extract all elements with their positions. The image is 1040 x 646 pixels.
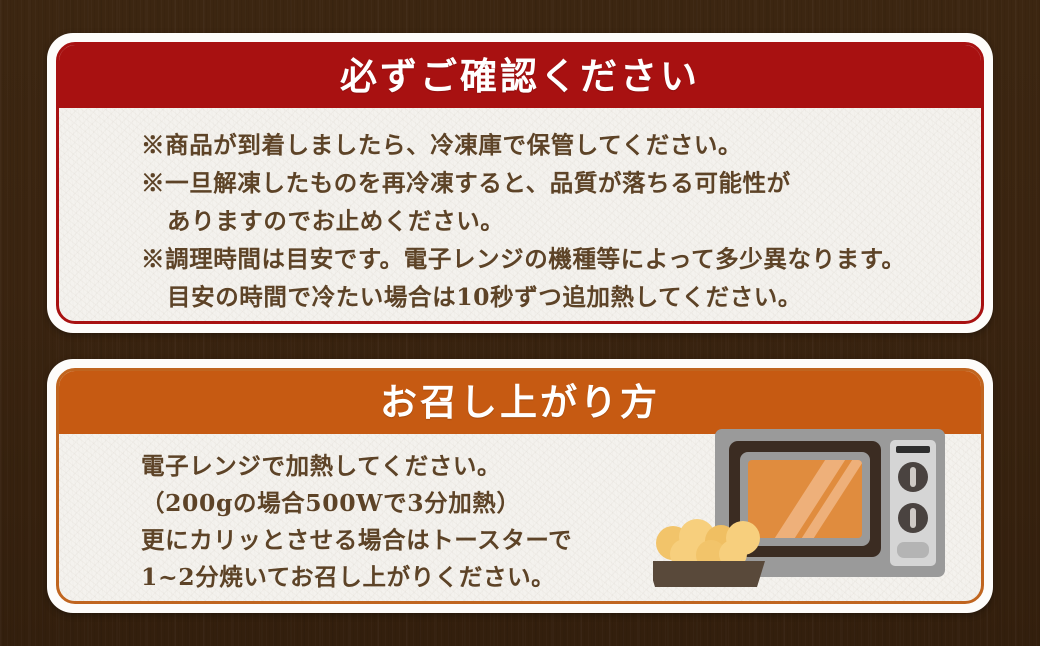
microwave-start-button[interactable] [897,542,929,558]
howto-panel: お召し上がり方 電子レンジで加熱してください。 （200gの場合500Wで3分加… [56,368,984,604]
howto-card: お召し上がり方 電子レンジで加熱してください。 （200gの場合500Wで3分加… [47,359,993,613]
food-tray [653,561,765,587]
poster-canvas: 必ずご確認ください ※商品が到着しましたら、冷凍庫で保管してください。 ※一旦解… [0,0,1040,646]
howto-line-2: （200gの場合500Wで3分加熱） [141,485,572,522]
microwave-knob-upper[interactable] [898,462,928,492]
microwave-window [748,454,868,547]
notice-card: 必ずご確認ください ※商品が到着しましたら、冷凍庫で保管してください。 ※一旦解… [47,33,993,333]
notice-line-3: ありますのでお止めください。 [141,202,906,240]
fried-food-plate [653,519,765,587]
notice-line-2: ※一旦解凍したものを再冷凍すると、品質が落ちる可能性が [141,164,906,202]
notice-body: ※商品が到着しましたら、冷凍庫で保管してください。 ※一旦解凍したものを再冷凍す… [59,108,981,321]
notice-line-1: ※商品が到着しましたら、冷凍庫で保管してください。 [141,126,906,164]
notice-line-5: 目安の時間で冷たい場合は10秒ずつ追加熱してください。 [141,278,906,316]
notice-title: 必ずご確認ください [340,58,700,95]
notice-header-band: 必ずご確認ください [59,45,981,108]
howto-text-block: 電子レンジで加熱してください。 （200gの場合500Wで3分加熱） 更にカリッ… [59,434,572,597]
howto-body: 電子レンジで加熱してください。 （200gの場合500Wで3分加熱） 更にカリッ… [59,434,981,601]
notice-line-4: ※調理時間は目安です。電子レンジの機種等によって多少異なります。 [141,240,906,278]
howto-line-1: 電子レンジで加熱してください。 [141,448,572,485]
notice-text-block: ※商品が到着しましたら、冷凍庫で保管してください。 ※一旦解凍したものを再冷凍す… [59,108,906,316]
microwave-illustration [653,421,963,601]
microwave-display [896,446,930,453]
howto-line-4: 1~2分焼いてお召し上がりください。 [141,559,572,596]
notice-panel: 必ずご確認ください ※商品が到着しましたら、冷凍庫で保管してください。 ※一旦解… [56,42,984,324]
howto-line-3: 更にカリッとさせる場合はトースターで [141,522,572,559]
microwave-knob-lower[interactable] [898,503,928,533]
howto-title: お召し上がり方 [380,384,660,421]
